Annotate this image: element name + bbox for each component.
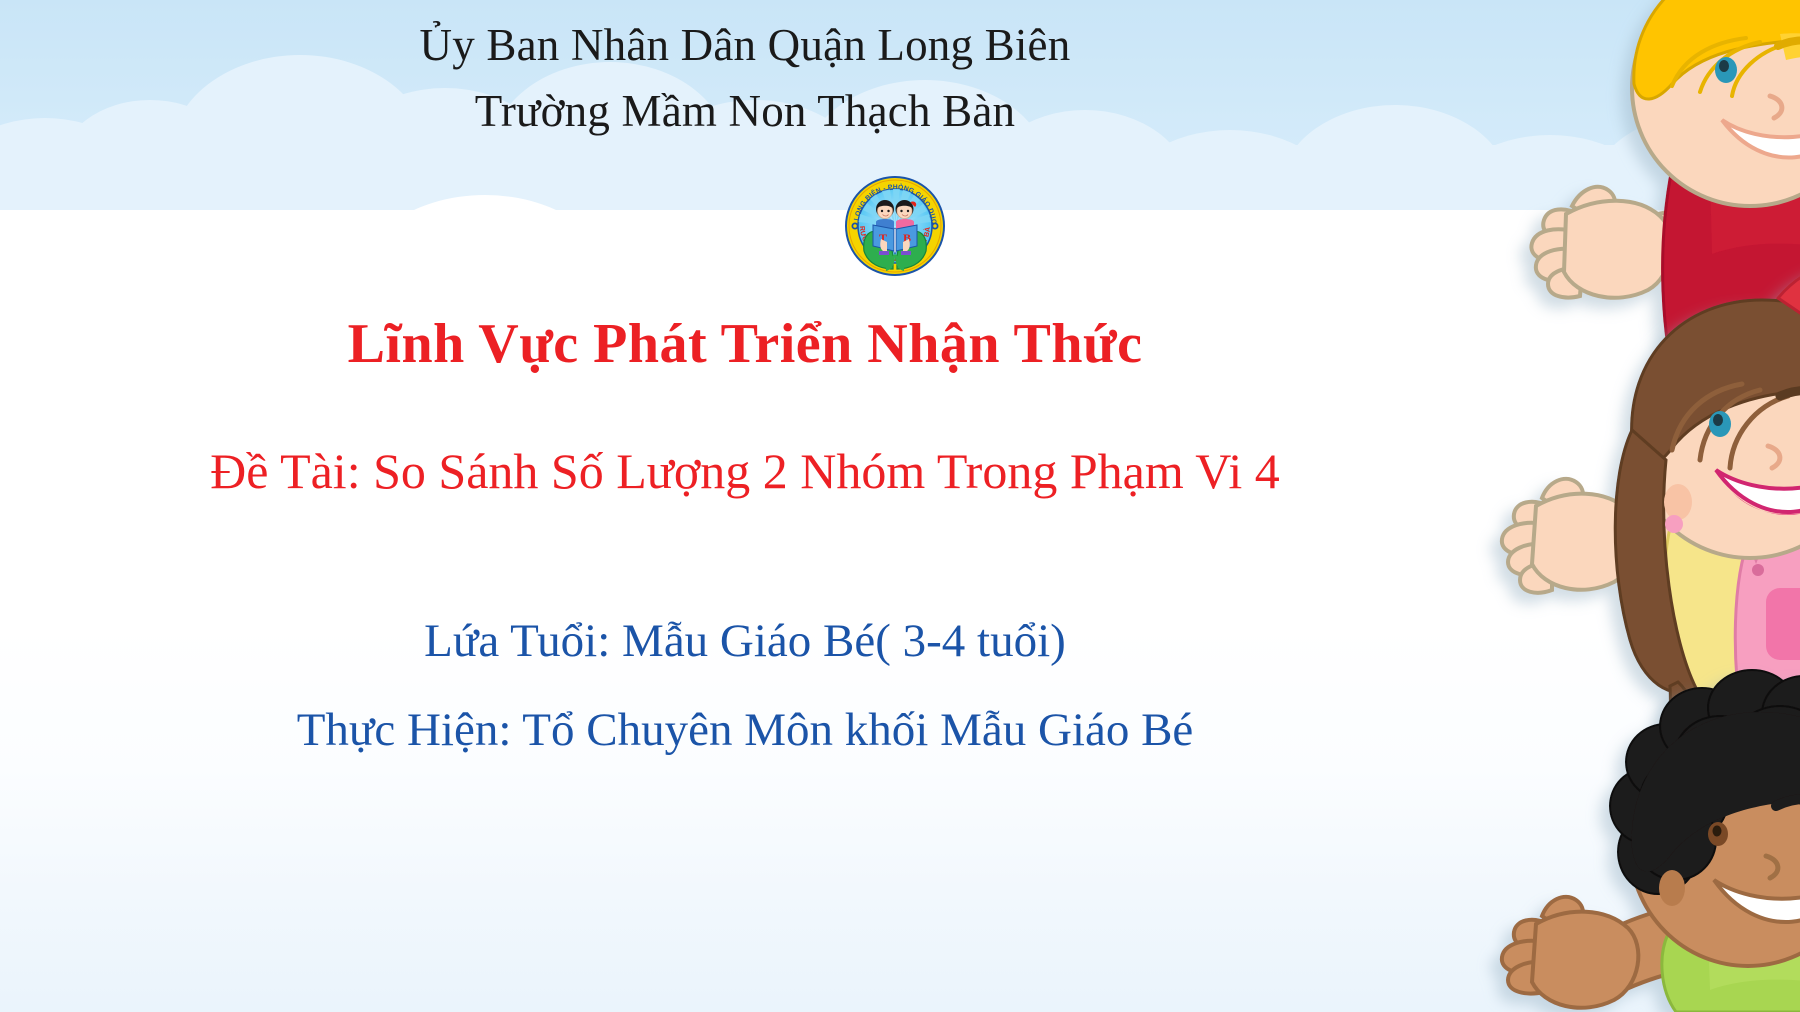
slide-content: Ủy Ban Nhân Dân Quận Long Biên Trường Mầ… <box>0 0 1800 1012</box>
implemented-by-line: Thực Hiện: Tổ Chuyên Môn khối Mẫu Giáo B… <box>0 703 1490 757</box>
school-logo: UBND QUẬN LONG BIÊN - PHÒNG GIÁO DỤC & Đ… <box>845 176 945 276</box>
organization-line-2: Trường Mầm Non Thạch Bàn <box>0 86 1490 136</box>
age-group-line: Lứa Tuổi: Mẫu Giáo Bé( 3-4 tuổi) <box>0 614 1490 668</box>
lesson-topic: Đề Tài: So Sánh Số Lượng 2 Nhóm Trong Ph… <box>190 437 1300 506</box>
lesson-domain-title: Lĩnh Vực Phát Triển Nhận Thức <box>0 312 1490 376</box>
organization-line-1: Ủy Ban Nhân Dân Quận Long Biên <box>0 20 1490 70</box>
presentation-slide: Ủy Ban Nhân Dân Quận Long Biên Trường Mầ… <box>0 0 1800 1012</box>
